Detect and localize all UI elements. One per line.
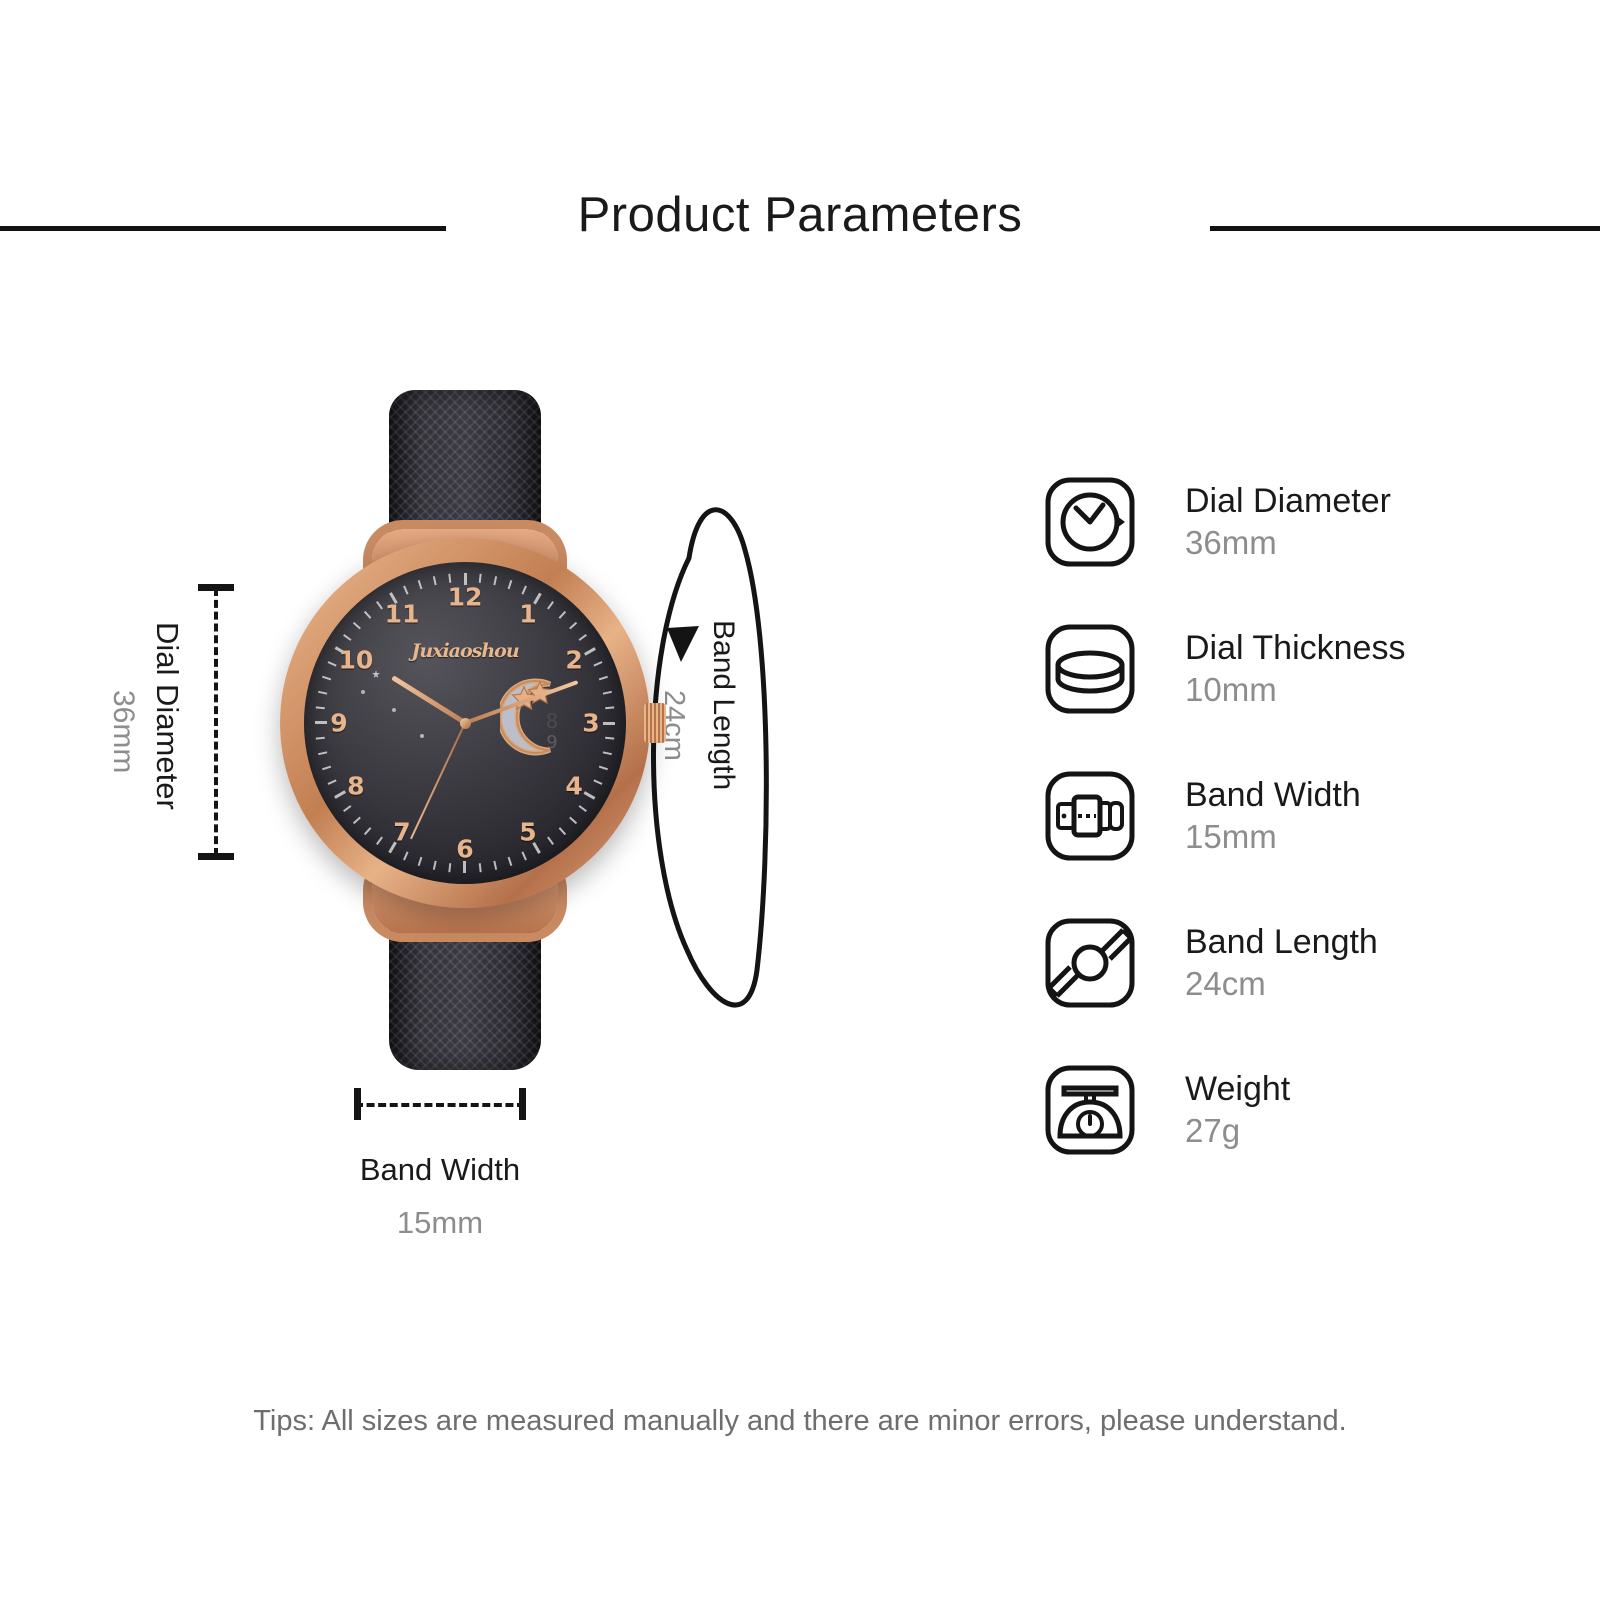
dial-tick bbox=[343, 805, 351, 812]
dial-tick bbox=[318, 751, 327, 755]
dial-tick bbox=[322, 766, 331, 771]
dial-tick bbox=[315, 721, 327, 724]
dial-tick bbox=[603, 691, 612, 695]
disc-thickness-icon bbox=[1040, 619, 1140, 719]
spec-label: Dial Diameter bbox=[1185, 481, 1391, 522]
spec-row-weight: Weight27g bbox=[1040, 1060, 1290, 1160]
dial-tick bbox=[547, 601, 554, 609]
dial-tick bbox=[493, 861, 497, 870]
dial-tick bbox=[479, 574, 482, 583]
dial-tick bbox=[328, 661, 337, 666]
dial-numeral-9: 9 bbox=[330, 709, 347, 738]
spec-label: Band Length bbox=[1185, 922, 1378, 963]
dial-tick bbox=[322, 676, 331, 681]
band-width-label: Band Width bbox=[230, 1152, 650, 1188]
dial-tick bbox=[353, 817, 361, 825]
dial-numeral-7: 7 bbox=[393, 818, 410, 847]
watch-dial: Juxiaoshou 121234567891011 8 9 bbox=[304, 562, 626, 884]
dim-cap-bottom bbox=[198, 853, 234, 860]
dial-tick bbox=[418, 857, 423, 866]
dial-tick bbox=[578, 634, 586, 641]
strap-buckle-icon bbox=[1040, 766, 1140, 866]
dial-tick bbox=[448, 574, 451, 583]
dial-tick bbox=[343, 634, 351, 641]
dial-tick bbox=[364, 611, 372, 619]
spec-label: Dial Thickness bbox=[1185, 628, 1405, 669]
dial-numeral-5: 5 bbox=[519, 818, 536, 847]
dial-tick bbox=[493, 576, 497, 585]
moon-star-subdial-icon: 8 9 bbox=[500, 676, 578, 758]
watch-product-image: Juxiaoshou 121234567891011 8 9 bbox=[230, 370, 700, 1090]
dial-tick bbox=[328, 779, 337, 784]
spec-row-dial-thickness: Dial Thickness10mm bbox=[1040, 619, 1405, 719]
second-hand bbox=[410, 723, 466, 840]
dial-tick bbox=[521, 851, 526, 860]
spec-value: 24cm bbox=[1185, 964, 1378, 1004]
dial-dot bbox=[392, 708, 396, 712]
dim-line-vertical bbox=[214, 588, 218, 856]
dial-tick bbox=[433, 861, 437, 870]
dial-tick bbox=[569, 817, 577, 825]
dial-numeral-11: 11 bbox=[385, 599, 420, 628]
dial-numeral-1: 1 bbox=[519, 599, 536, 628]
dial-tick bbox=[508, 857, 513, 866]
loop-arrowhead bbox=[667, 626, 699, 662]
dial-tick bbox=[316, 706, 325, 709]
spec-label: Weight bbox=[1185, 1069, 1290, 1110]
dial-tick bbox=[599, 766, 608, 771]
dial-numeral-8: 8 bbox=[347, 772, 364, 801]
band-width-value: 15mm bbox=[230, 1205, 650, 1241]
spec-value: 36mm bbox=[1185, 523, 1391, 563]
hands-center-cap bbox=[460, 718, 471, 729]
watch-case: Juxiaoshou 121234567891011 8 9 bbox=[280, 538, 650, 908]
spec-row-dial-diameter: Dial Diameter36mm bbox=[1040, 472, 1391, 572]
dim-cap-right bbox=[519, 1088, 526, 1120]
dial-tick bbox=[603, 722, 615, 725]
dial-numeral-3: 3 bbox=[582, 709, 599, 738]
dial-numeral-4: 4 bbox=[565, 772, 582, 801]
dial-tick bbox=[364, 827, 372, 835]
dial-tick bbox=[448, 863, 451, 872]
dial-tick bbox=[433, 576, 437, 585]
date-window-value: 8 bbox=[546, 709, 559, 733]
dial-numeral-2: 2 bbox=[565, 646, 582, 675]
dial-tick bbox=[599, 676, 608, 681]
watch-crown bbox=[644, 703, 666, 743]
kitchen-scale-icon bbox=[1040, 1060, 1140, 1160]
dial-tick bbox=[376, 836, 383, 844]
tips-note: Tips: All sizes are measured manually an… bbox=[0, 1405, 1600, 1438]
dial-tick bbox=[479, 863, 482, 872]
dial-numeral-6: 6 bbox=[456, 835, 473, 864]
dial-tick bbox=[334, 790, 346, 799]
dial-numeral-10: 10 bbox=[338, 646, 373, 675]
spec-row-band-length: Band Length24cm bbox=[1040, 913, 1378, 1013]
dial-tick bbox=[584, 791, 596, 800]
band-length-label: Band Length bbox=[707, 620, 740, 790]
watch-diagonal-icon bbox=[1040, 913, 1140, 1013]
dial-tick bbox=[593, 779, 602, 784]
dial-tick bbox=[403, 851, 408, 860]
watch-face-icon bbox=[1040, 472, 1140, 572]
dial-tick bbox=[559, 827, 567, 835]
dial-tick bbox=[521, 586, 526, 595]
dial-tick bbox=[508, 580, 513, 589]
dial-tick bbox=[318, 691, 327, 695]
dial-tick bbox=[605, 706, 614, 709]
dial-tick bbox=[316, 737, 325, 740]
spec-value: 15mm bbox=[1185, 817, 1361, 857]
dial-tick bbox=[569, 622, 577, 630]
dial-tick bbox=[578, 805, 586, 812]
dial-tick bbox=[353, 622, 361, 630]
svg-text:9: 9 bbox=[546, 732, 557, 753]
dial-diameter-label: Dial Diameter bbox=[150, 622, 185, 810]
dial-dot bbox=[361, 690, 365, 694]
dial-tick bbox=[559, 611, 567, 619]
spec-value: 27g bbox=[1185, 1111, 1290, 1151]
spec-label: Band Width bbox=[1185, 775, 1361, 816]
dial-tick bbox=[605, 737, 614, 740]
dial-diameter-value: 36mm bbox=[107, 690, 140, 773]
dial-tick bbox=[376, 601, 383, 609]
dial-tick bbox=[593, 661, 602, 666]
page-header: Product Parameters bbox=[0, 90, 1600, 200]
dial-tick bbox=[603, 751, 612, 755]
page-title: Product Parameters bbox=[0, 187, 1600, 243]
dial-tick bbox=[584, 647, 596, 656]
dial-tick bbox=[547, 836, 554, 844]
dial-tick bbox=[418, 580, 423, 589]
dial-dot bbox=[420, 734, 424, 738]
dial-brand-logo: Juxiaoshou bbox=[411, 640, 518, 662]
dim-line-horizontal bbox=[355, 1103, 525, 1107]
dial-tick bbox=[403, 586, 408, 595]
spec-value: 10mm bbox=[1185, 670, 1405, 710]
dial-numeral-12: 12 bbox=[448, 583, 483, 612]
hour-hand bbox=[391, 675, 467, 725]
spec-row-band-width: Band Width15mm bbox=[1040, 766, 1361, 866]
